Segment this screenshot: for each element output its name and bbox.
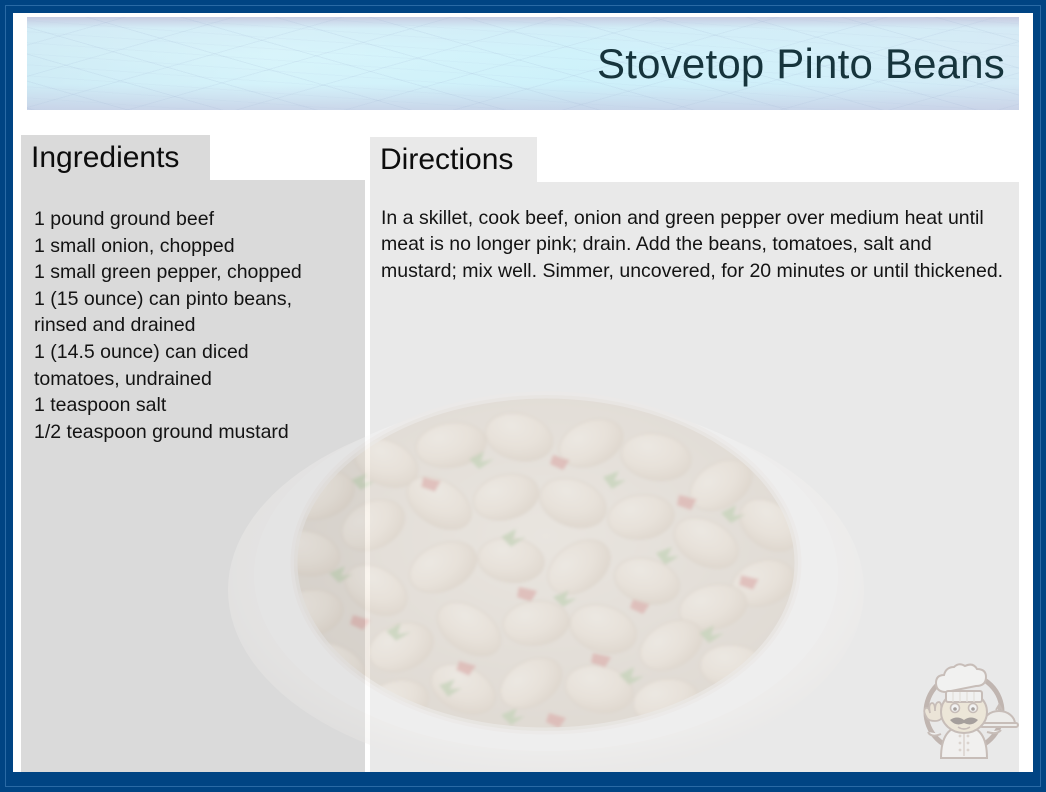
recipe-title: Stovetop Pinto Beans xyxy=(597,43,1005,85)
list-item: 1 (15 ounce) can pinto beans, xyxy=(34,286,351,313)
recipe-card: Stovetop Pinto Beans Ingredients 1 pound… xyxy=(0,0,1046,792)
list-item: rinsed and drained xyxy=(34,312,351,339)
list-item: tomatoes, undrained xyxy=(34,366,351,393)
directions-body-text: In a skillet, cook beef, onion and green… xyxy=(381,205,1005,284)
list-item: 1/2 teaspoon ground mustard xyxy=(34,419,351,446)
ingredients-heading-label: Ingredients xyxy=(31,141,179,174)
list-item: 1 (14.5 ounce) can diced xyxy=(34,339,351,366)
directions-heading-label: Directions xyxy=(380,143,513,176)
list-item: 1 small onion, chopped xyxy=(34,233,351,260)
ingredients-heading-tab: Ingredients xyxy=(21,135,210,180)
column-divider xyxy=(365,180,370,772)
header-banner: Stovetop Pinto Beans xyxy=(27,17,1019,110)
list-item: 1 pound ground beef xyxy=(34,206,351,233)
directions-panel: In a skillet, cook beef, onion and green… xyxy=(370,182,1019,772)
list-item: 1 teaspoon salt xyxy=(34,392,351,419)
directions-heading-tab: Directions xyxy=(370,137,537,182)
list-item: 1 small green pepper, chopped xyxy=(34,259,351,286)
recipe-page: Stovetop Pinto Beans Ingredients 1 pound… xyxy=(13,13,1033,772)
ingredients-panel: 1 pound ground beef 1 small onion, chopp… xyxy=(21,180,365,772)
